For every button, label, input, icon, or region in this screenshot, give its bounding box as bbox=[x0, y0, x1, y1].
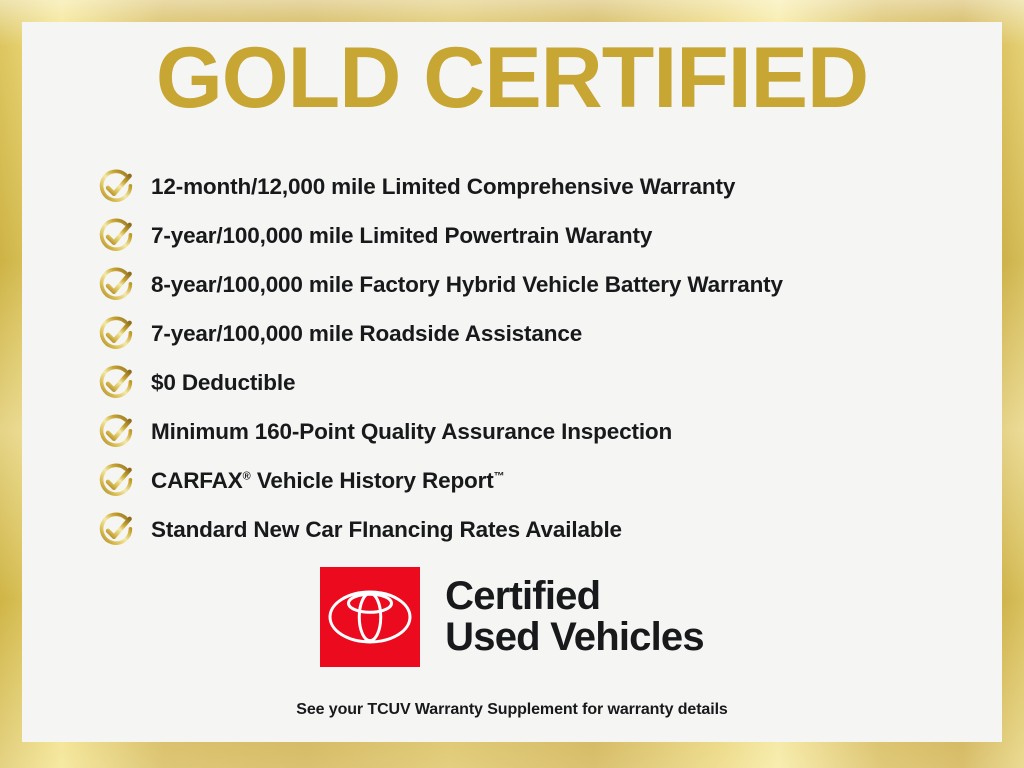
lockup-line-1: Certified bbox=[445, 576, 704, 617]
gold-check-icon bbox=[96, 216, 136, 256]
gold-check-icon bbox=[96, 510, 136, 550]
benefits-list: 12-month/12,000 mile Limited Comprehensi… bbox=[96, 162, 956, 554]
warranty-footnote: See your TCUV Warranty Supplement for wa… bbox=[22, 701, 1002, 719]
list-item: Minimum 160-Point Quality Assurance Insp… bbox=[96, 407, 956, 456]
toyota-emblem-icon bbox=[327, 586, 413, 648]
list-item-label: CARFAX® Vehicle History Report™ bbox=[151, 468, 505, 494]
badge-panel: GOLD CERTIFIED 12-month/12,000 mile Limi… bbox=[22, 22, 1002, 742]
gold-certified-badge: GOLD CERTIFIED 12-month/12,000 mile Limi… bbox=[0, 0, 1024, 768]
list-item: 7-year/100,000 mile Limited Powertrain W… bbox=[96, 211, 956, 260]
list-item-label: Standard New Car FInancing Rates Availab… bbox=[151, 517, 622, 543]
list-item: $0 Deductible bbox=[96, 358, 956, 407]
list-item: Standard New Car FInancing Rates Availab… bbox=[96, 505, 956, 554]
carfax-report-label: Vehicle History Report bbox=[251, 468, 494, 493]
list-item-label: 7-year/100,000 mile Roadside Assistance bbox=[151, 321, 582, 347]
page-title: GOLD CERTIFIED bbox=[22, 35, 1002, 121]
list-item-label: 8-year/100,000 mile Factory Hybrid Vehic… bbox=[151, 272, 783, 298]
list-item-label: Minimum 160-Point Quality Assurance Insp… bbox=[151, 419, 672, 445]
gold-check-icon bbox=[96, 314, 136, 354]
list-item: 12-month/12,000 mile Limited Comprehensi… bbox=[96, 162, 956, 211]
list-item-label: 12-month/12,000 mile Limited Comprehensi… bbox=[151, 174, 735, 200]
list-item: 8-year/100,000 mile Factory Hybrid Vehic… bbox=[96, 260, 956, 309]
gold-check-icon bbox=[96, 412, 136, 452]
toyota-certified-used-vehicles-lockup: Certified Used Vehicles bbox=[22, 567, 1002, 667]
gold-check-icon bbox=[96, 265, 136, 305]
trademark-mark: ™ bbox=[494, 470, 505, 482]
gold-check-icon bbox=[96, 167, 136, 207]
list-item: 7-year/100,000 mile Roadside Assistance bbox=[96, 309, 956, 358]
list-item-label: $0 Deductible bbox=[151, 370, 295, 396]
list-item: CARFAX® Vehicle History Report™ bbox=[96, 456, 956, 505]
toyota-logo-tile bbox=[320, 567, 420, 667]
carfax-wordmark: CARFAX bbox=[151, 468, 243, 493]
gold-check-icon bbox=[96, 461, 136, 501]
registered-mark: ® bbox=[243, 470, 251, 482]
gold-check-icon bbox=[96, 363, 136, 403]
lockup-line-2: Used Vehicles bbox=[445, 617, 704, 658]
list-item-label: 7-year/100,000 mile Limited Powertrain W… bbox=[151, 223, 652, 249]
lockup-text: Certified Used Vehicles bbox=[445, 576, 704, 658]
